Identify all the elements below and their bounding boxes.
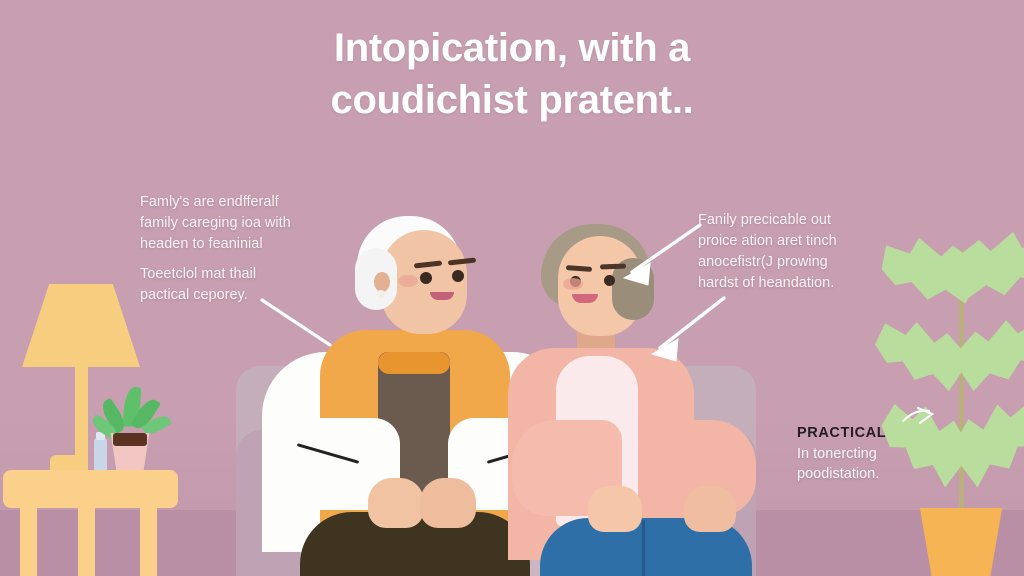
side-table-leg <box>78 505 95 576</box>
small-plant-soil <box>113 433 147 446</box>
title-line-1: Intopication, with a <box>0 22 1024 74</box>
side-table-leg <box>20 505 37 576</box>
callout-heading: PRACTICAL <box>797 425 917 441</box>
callout-body-line-2: poodistation. <box>797 464 917 484</box>
note-left-line-4: Toeetclol mat thail <box>140 264 350 285</box>
figure-b-hand-right <box>684 486 736 532</box>
note-left-line-2: family careging ioa with <box>140 213 350 234</box>
figure-a-hand-right <box>420 478 476 528</box>
note-right-line-3: anocefistr(J prowing <box>698 252 878 273</box>
annotation-note-right: Fanily precicable out proice ation aret … <box>698 210 878 294</box>
note-right-line-2: proice ation aret tinch <box>698 231 878 252</box>
note-left-line-1: Famly's are endfferalf <box>140 192 350 213</box>
note-left-line-3: headen to feaninial <box>140 234 350 255</box>
figure-b-jeans-seam <box>642 520 645 576</box>
blue-bottle <box>94 438 107 474</box>
callout-practical: PRACTICAL In tonercting poodistation. <box>797 425 917 484</box>
annotation-note-left: Famly's are endfferalf family careging i… <box>140 192 350 306</box>
page-title: Intopication, with a coudichist pratent.… <box>0 22 1024 126</box>
figure-a-earring <box>377 290 385 298</box>
figure-b-hand-left <box>588 486 642 532</box>
callout-body-line-1: In tonercting <box>797 444 917 464</box>
note-left-line-5: pactical ceporey. <box>140 285 350 306</box>
side-table-leg <box>140 505 157 576</box>
note-right-line-1: Fanily precicable out <box>698 210 878 231</box>
figure-a-hand-left <box>368 478 424 528</box>
side-table-top <box>3 470 178 508</box>
figure-a-ear <box>374 272 390 292</box>
illustration-canvas: Intopication, with a coudichist pratent.… <box>0 0 1024 576</box>
note-right-line-4: hardst of heandation. <box>698 273 878 294</box>
figure-a-collar <box>378 352 450 374</box>
title-line-2: coudichist pratent.. <box>0 74 1024 126</box>
lamp-shade <box>22 284 140 367</box>
